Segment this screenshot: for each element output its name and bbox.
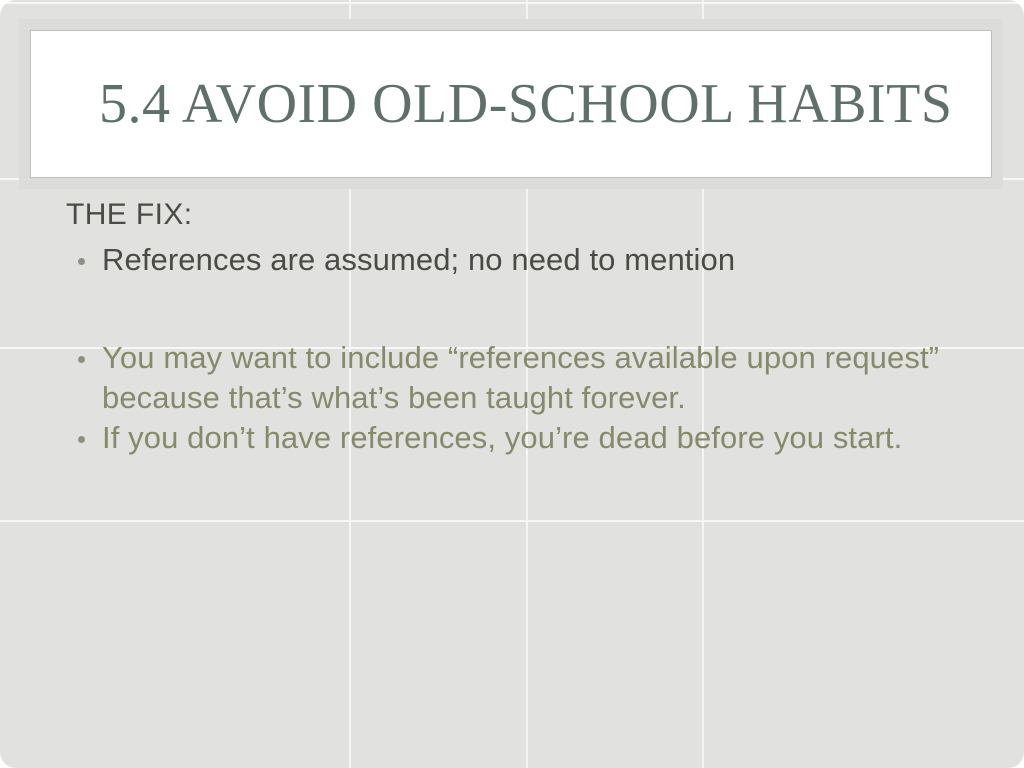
bullet-item-2: You may want to include “references avai… (66, 338, 984, 418)
bullet-list-secondary: You may want to include “references avai… (66, 338, 984, 458)
gridline-horizontal-4 (0, 520, 1024, 522)
slide-title: 5.4 AVOID OLD-SCHOOL HABITS (31, 75, 953, 134)
bullet-item-1: References are assumed; no need to menti… (66, 240, 984, 280)
slide-canvas: 5.4 AVOID OLD-SCHOOL HABITS THE FIX: Ref… (0, 0, 1024, 768)
bullet-list: References are assumed; no need to menti… (66, 240, 984, 280)
gridline-horizontal-2 (0, 178, 1024, 180)
slide-title-box: 5.4 AVOID OLD-SCHOOL HABITS (30, 30, 992, 178)
gridline-horizontal-1 (0, 2, 1024, 4)
body-heading: THE FIX: (66, 196, 984, 234)
slide-body: THE FIX: References are assumed; no need… (0, 196, 1024, 458)
bullet-group-spacer (66, 280, 984, 338)
bullet-item-3: If you don’t have references, you’re dea… (66, 418, 984, 458)
